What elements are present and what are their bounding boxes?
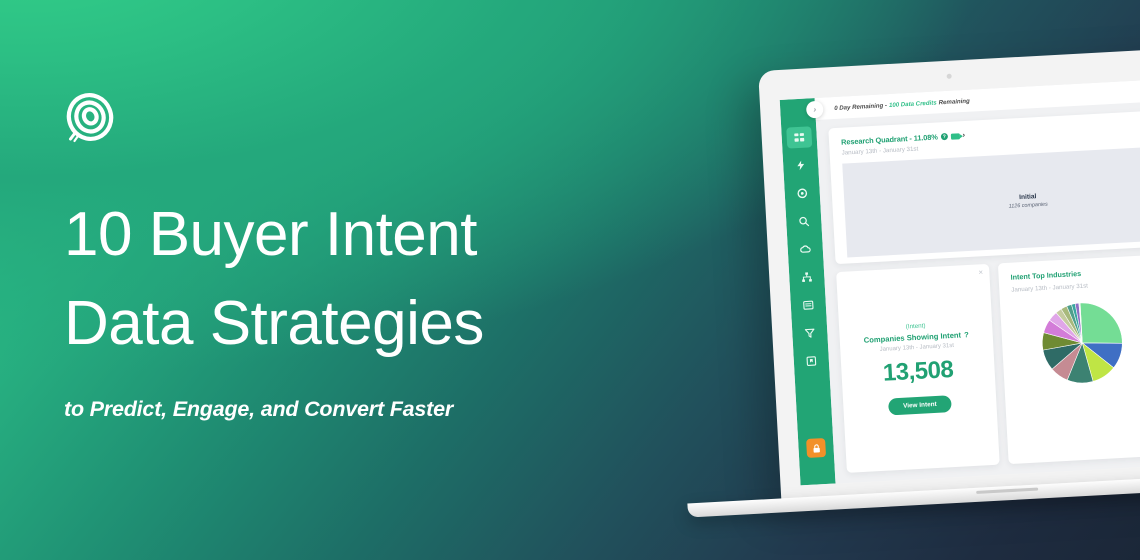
intent-value: 13,508: [882, 356, 954, 388]
topbar-remaining-suffix: Remaining: [938, 97, 969, 106]
search-icon: [798, 216, 810, 228]
view-intent-button[interactable]: View Intent: [888, 395, 952, 415]
cloud-upload-icon: [800, 243, 812, 255]
sidebar-item-org-chart[interactable]: [794, 266, 820, 288]
pie-slice[interactable]: [1080, 301, 1122, 346]
sidebar-item-upload[interactable]: [792, 238, 818, 260]
sidebar-item-lists[interactable]: [795, 294, 821, 316]
filter-funnel-icon: [804, 327, 816, 339]
app-screen: › 0 Day Remaining - 100 Data Credits Rem…: [780, 74, 1140, 485]
sidebar-toggle-button[interactable]: ›: [806, 101, 824, 119]
intent-top-industries-card: Intent Top Industries January 13th - Jan…: [998, 247, 1140, 464]
sidebar-item-filters[interactable]: [797, 322, 823, 344]
quadrant-segment-initial[interactable]: Initial 1126 companies: [842, 144, 1140, 258]
sidebar-item-saved[interactable]: [798, 350, 824, 372]
quadrant-chart: Initial 1126 companies Interested 309 co…: [842, 139, 1140, 257]
sidebar-item-dashboard[interactable]: [786, 126, 812, 148]
lock-button[interactable]: [806, 438, 826, 458]
dashboard-grid-icon: [793, 132, 805, 144]
laptop-lid: › 0 Day Remaining - 100 Data Credits Rem…: [758, 44, 1140, 502]
segment-label: Initial: [1019, 193, 1037, 201]
companies-showing-intent-card: ✕ (Intent) Companies Showing Intent ? Ja…: [836, 264, 1000, 473]
chevron-right-icon[interactable]: ›: [963, 132, 966, 139]
help-circle-icon[interactable]: ?: [941, 133, 948, 140]
sidebar-item-targets[interactable]: [789, 182, 815, 204]
industries-pie-chart[interactable]: [1036, 297, 1129, 390]
intent-tag: (Intent): [906, 322, 926, 330]
segment-count: 1126 companies: [1009, 201, 1048, 209]
chevron-right-icon: ›: [813, 105, 816, 114]
page-title: 10 Buyer Intent Data Strategies: [64, 190, 664, 369]
laptop-mockup: › 0 Day Remaining - 100 Data Credits Rem…: [691, 14, 1140, 514]
help-circle-icon[interactable]: ?: [964, 330, 969, 339]
topbar-data-credits[interactable]: 100 Data Credits: [889, 99, 937, 109]
lightning-bolt-icon: [795, 160, 807, 172]
app-main: › 0 Day Remaining - 100 Data Credits Rem…: [815, 74, 1140, 483]
research-quadrant-card: Research Quadrant - 11.08% ? › January 1…: [828, 103, 1140, 264]
intent-date-range: January 13th - January 31st: [880, 343, 955, 353]
brand-logo: [64, 92, 116, 144]
page-subtitle: to Predict, Engage, and Convert Faster: [64, 397, 664, 422]
pie-card-title: Intent Top Industries: [1010, 257, 1140, 282]
target-icon: [796, 188, 808, 200]
sidebar-item-signals[interactable]: [788, 154, 814, 176]
webcam-icon: [947, 74, 952, 79]
list-view-icon: [803, 299, 815, 311]
org-chart-icon: [801, 271, 813, 283]
lock-icon: [811, 443, 822, 454]
pie-chart-svg: [1036, 297, 1129, 390]
topbar-days-remaining: 0 Day Remaining -: [834, 102, 887, 112]
hero-content: 10 Buyer Intent Data Strategies to Predi…: [64, 92, 664, 422]
video-camera-icon[interactable]: [951, 133, 960, 139]
spiral-onion-logo-icon: [64, 92, 116, 144]
intent-card-body: (Intent) Companies Showing Intent ? Janu…: [836, 264, 1000, 473]
sidebar-item-search[interactable]: [791, 210, 817, 232]
saved-card-icon: [806, 355, 818, 367]
